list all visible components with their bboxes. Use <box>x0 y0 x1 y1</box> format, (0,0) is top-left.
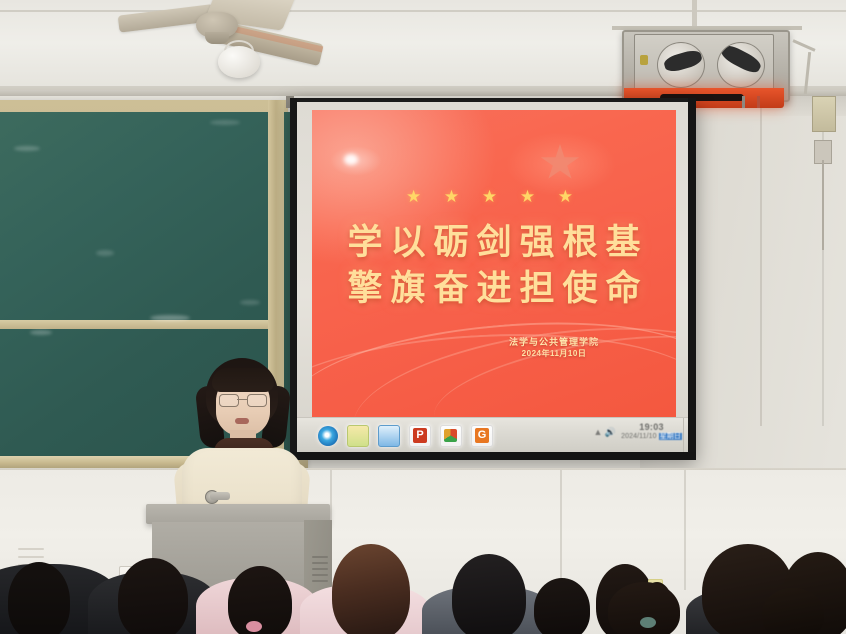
chalk-smudge <box>240 300 260 305</box>
slide-title-line-1: 学以砺剑强根基 <box>312 220 676 266</box>
wall-junction-box <box>812 96 836 132</box>
ceiling-seam <box>0 10 846 12</box>
projector-foot <box>757 96 760 108</box>
screen-edge-right <box>688 98 696 458</box>
chalk-smudge <box>14 146 40 151</box>
screen-bottom-bar <box>290 452 696 460</box>
system-tray[interactable]: ▲ 🔊 19:03 2024/11/10 星期日 <box>594 422 683 442</box>
wall-seam <box>760 96 762 426</box>
audience-head <box>452 554 526 634</box>
audience-head <box>118 558 188 634</box>
taskbar-icon-group <box>318 425 493 447</box>
taskbar-clock[interactable]: 19:03 2024/11/10 星期日 <box>621 422 682 442</box>
presenter-mouth <box>235 418 249 424</box>
glasses-lens-left <box>219 394 239 407</box>
hair-scrunchie <box>640 617 656 628</box>
projector-hotspot <box>344 154 358 165</box>
folder-icon[interactable] <box>347 425 369 447</box>
audience-head <box>8 562 70 634</box>
video-player-icon[interactable] <box>378 425 400 447</box>
audience-head <box>332 544 410 634</box>
internet-explorer-icon[interactable] <box>318 426 338 446</box>
microphone-base <box>210 492 230 500</box>
wall-cable <box>822 160 824 250</box>
chalk-smudge <box>150 315 190 321</box>
projector-inner-shadow <box>719 42 764 76</box>
blackboard-divider-horizontal <box>0 320 276 329</box>
padlock-icon <box>640 55 648 65</box>
classroom-scene: ★ ★ ★ ★ ★ 学以砺剑强根基 擎旗奋进担使命 法学与公共管理学院 2024… <box>0 0 846 634</box>
audience-head <box>762 588 824 634</box>
presenter-bangs <box>212 368 274 392</box>
clock-date-text: 2024/11/10 <box>621 433 659 440</box>
presenter: WARDAMN <box>178 358 306 518</box>
hair-scrunchie <box>246 621 262 632</box>
windows-taskbar[interactable]: ▲ 🔊 19:03 2024/11/10 星期日 <box>296 417 690 453</box>
chalk-smudge <box>30 330 52 335</box>
audience-row <box>0 500 846 634</box>
slide-title-line-2: 擎旗奋进担使命 <box>312 266 676 312</box>
tray-arrow-icon[interactable]: ▲ 🔊 <box>594 427 617 438</box>
security-camera-icon <box>218 46 260 78</box>
powerpoint-icon[interactable] <box>409 425 431 447</box>
clock-time: 19:03 <box>621 422 682 432</box>
app-icon[interactable] <box>471 425 493 447</box>
chalk-smudge <box>210 120 240 125</box>
chalk-smudge <box>96 250 114 256</box>
wps-office-icon[interactable] <box>440 425 462 447</box>
glasses-lens-right <box>247 394 267 407</box>
clock-date: 2024/11/10 星期日 <box>621 432 682 442</box>
glasses-icon <box>219 394 267 405</box>
projector-cage-opening <box>657 42 705 88</box>
ceiling-fan-housing <box>205 32 229 44</box>
clock-weekday: 星期日 <box>659 433 682 440</box>
slide-title: 学以砺剑强根基 擎旗奋进担使命 <box>312 220 676 312</box>
projector-cage-opening <box>717 42 765 88</box>
presentation-slide[interactable]: ★ ★ ★ ★ ★ 学以砺剑强根基 擎旗奋进担使命 法学与公共管理学院 2024… <box>312 110 676 417</box>
five-stars-row: ★ ★ ★ ★ ★ <box>312 188 676 205</box>
glasses-bridge <box>237 399 247 400</box>
audience-head <box>534 578 590 634</box>
projector-foot <box>742 96 745 108</box>
projector-inner-shadow <box>663 48 704 74</box>
